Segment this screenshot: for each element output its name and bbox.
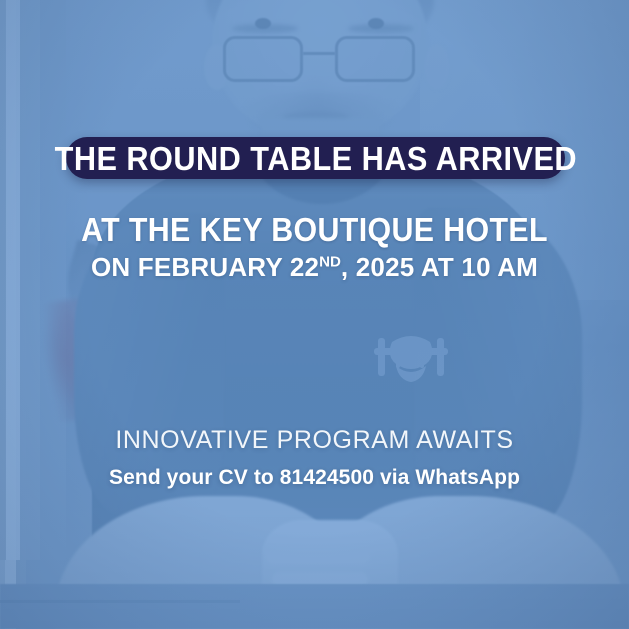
headline-banner: THE ROUND TABLE HAS ARRIVED	[66, 137, 565, 179]
tagline-text: INNOVATIVE PROGRAM AWAITS	[0, 427, 629, 455]
date-suffix: , 2025 AT 10 AM	[341, 252, 538, 282]
poster-content: THE ROUND TABLE HAS ARRIVED AT THE KEY B…	[0, 0, 629, 629]
headline-text: THE ROUND TABLE HAS ARRIVED	[54, 142, 576, 175]
poster-canvas: THE ROUND TABLE HAS ARRIVED AT THE KEY B…	[0, 0, 629, 629]
date-prefix: ON FEBRUARY 22	[91, 252, 319, 282]
venue-text: AT THE KEY BOUTIQUE HOTEL	[25, 212, 604, 248]
date-ordinal: ND	[319, 253, 341, 270]
cta-text: Send your CV to 81424500 via WhatsApp	[0, 466, 629, 489]
datetime-text: ON FEBRUARY 22ND, 2025 AT 10 AM	[0, 253, 629, 282]
